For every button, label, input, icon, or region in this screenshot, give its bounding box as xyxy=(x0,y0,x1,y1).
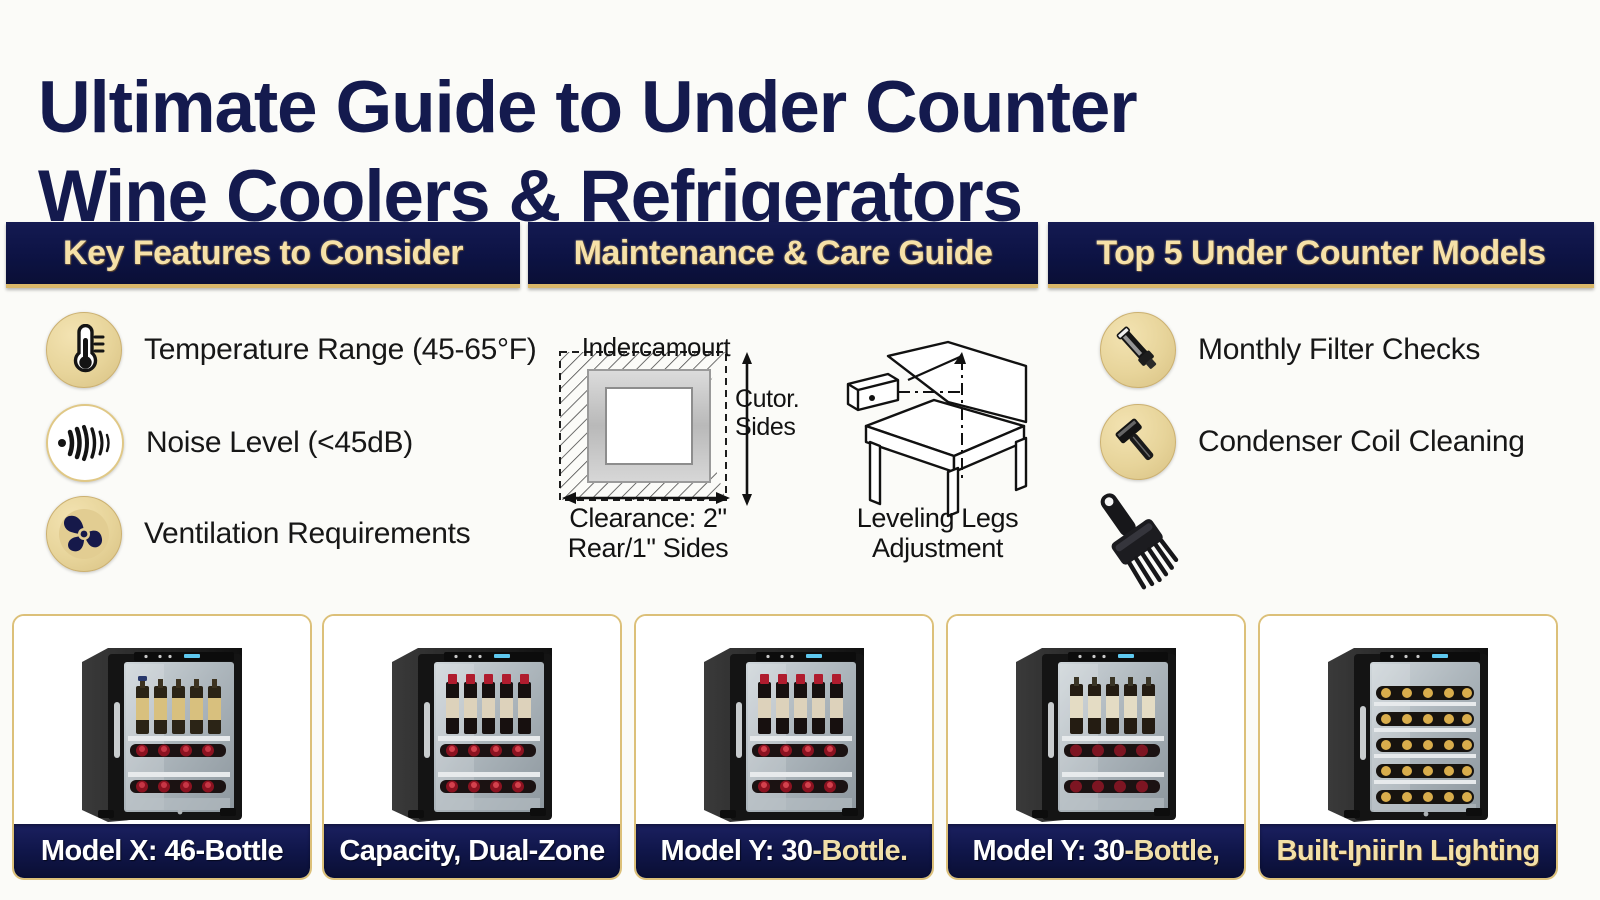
infographic-page: Ultimate Guide to Under Counter Wine Coo… xyxy=(0,0,1600,900)
product-card-caption: Capacity, Dual-Zone xyxy=(324,824,620,878)
product-card[interactable]: Capacity, Dual-Zone xyxy=(322,614,622,880)
product-card-caption: Model Y: 30-Bottle. xyxy=(636,824,932,878)
maintenance-label: Condenser Coil Cleaning xyxy=(1198,425,1525,459)
caption-part-b: -Bottle, xyxy=(1124,835,1219,867)
wine-cooler-photo xyxy=(1260,616,1556,828)
product-card[interactable]: Model Y: 30-Bottle. xyxy=(634,614,934,880)
cutout-bottom-label: Clearance: 2" Rear/1" Sides xyxy=(548,503,748,563)
thermometer-icon xyxy=(46,312,122,388)
coil-brush-icon xyxy=(1100,404,1176,480)
feature-label: Noise Level (<45dB) xyxy=(146,426,413,460)
feature-item-noise: Noise Level (<45dB) xyxy=(46,404,413,482)
product-caption-text: Model Y: 30-Bottle, xyxy=(973,835,1220,868)
product-caption-text: Model Y: 30-Bottle. xyxy=(661,835,908,868)
section-header-top-models: Top 5 Under Counter Models xyxy=(1048,222,1594,288)
cutout-side-label: Cutor. Sides xyxy=(735,386,845,441)
leveling-legs-caption: Leveling Legs Adjustment xyxy=(830,503,1045,563)
cutout-side-label-line-2: Sides xyxy=(735,414,845,442)
product-card-caption: Built-IɲiiгIn Lighting xyxy=(1260,824,1556,878)
feature-item-temperature: Temperature Range (45-65°F) xyxy=(46,312,536,388)
product-card[interactable]: Model Y: 30-Bottle, xyxy=(946,614,1246,880)
fan-icon xyxy=(46,496,122,572)
wine-cooler-photo xyxy=(14,616,310,828)
sound-wave-icon xyxy=(46,404,124,482)
product-card-caption: Model Y: 30-Bottle, xyxy=(948,824,1244,878)
maintenance-item-coil: Condenser Coil Cleaning xyxy=(1100,404,1525,480)
caption-part-a: Model Y: 30 xyxy=(973,835,1125,867)
section-header-maintenance: Maintenance & Care Guide xyxy=(528,222,1038,288)
cutout-top-label: Indercamourt xyxy=(566,333,746,362)
wine-cooler-photo xyxy=(636,616,932,828)
product-caption-text: Model X: 46-Bottle xyxy=(41,835,283,868)
caption-part-a: Model Y: 30 xyxy=(661,835,813,867)
feature-item-ventilation: Ventilation Requirements xyxy=(46,496,470,572)
legs-caption-line-1: Leveling Legs xyxy=(830,503,1045,533)
cleaning-brush-icon xyxy=(1078,480,1188,590)
page-title-line-1: Ultimate Guide to Under Counter xyxy=(38,67,1136,148)
feature-label: Temperature Range (45-65°F) xyxy=(144,333,536,367)
caption-part-b: -Bottle. xyxy=(812,835,907,867)
clearance-line-2: Rear/1" Sides xyxy=(548,533,748,563)
filter-brush-icon xyxy=(1100,312,1176,388)
page-title: Ultimate Guide to Under Counter Wine Coo… xyxy=(38,63,1438,241)
product-caption-text: Capacity, Dual-Zone xyxy=(339,835,604,868)
product-card[interactable]: Built-IɲiiгIn Lighting xyxy=(1258,614,1558,880)
wine-cooler-photo xyxy=(948,616,1244,828)
maintenance-label: Monthly Filter Checks xyxy=(1198,333,1480,367)
section-header-label: Key Features to Consider xyxy=(63,234,463,273)
wine-cooler-photo xyxy=(324,616,620,828)
cutout-side-label-line-1: Cutor. xyxy=(735,386,845,414)
product-card[interactable]: Model X: 46-Bottle xyxy=(12,614,312,880)
clearance-line-1: Clearance: 2" xyxy=(548,503,748,533)
maintenance-item-filter: Monthly Filter Checks xyxy=(1100,312,1480,388)
section-header-key-features: Key Features to Consider xyxy=(6,222,520,288)
feature-label: Ventilation Requirements xyxy=(144,517,470,551)
section-header-label: Maintenance & Care Guide xyxy=(574,234,993,273)
legs-caption-line-2: Adjustment xyxy=(830,533,1045,563)
section-header-label: Top 5 Under Counter Models xyxy=(1096,234,1545,273)
product-card-caption: Model X: 46-Bottle xyxy=(14,824,310,878)
product-caption-text: Built-IɲiiгIn Lighting xyxy=(1276,835,1539,868)
